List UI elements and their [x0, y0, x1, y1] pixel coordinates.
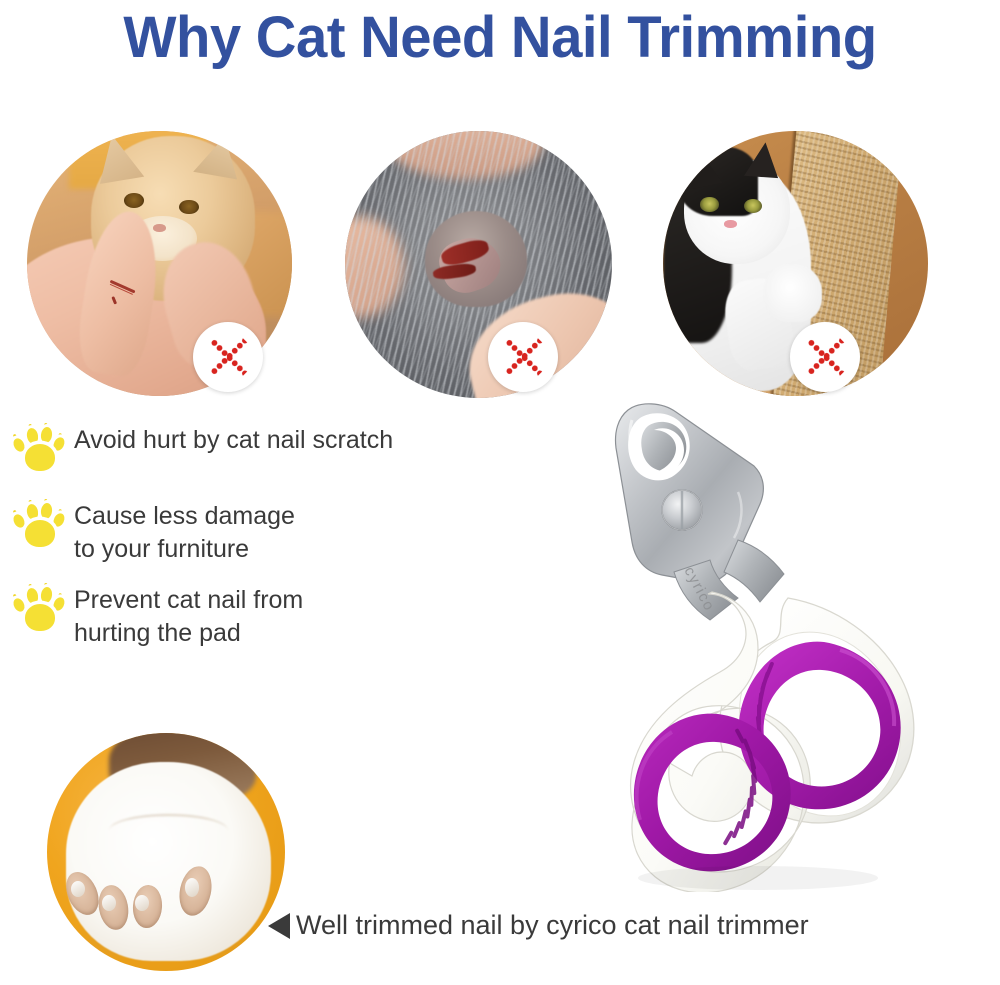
- benefit-label-2: Cause less damage to your furniture: [74, 496, 295, 566]
- result-caption: Well trimmed nail by cyrico cat nail tri…: [268, 910, 809, 941]
- x-mark-badge-3: [790, 322, 860, 392]
- benefit-label-1: Avoid hurt by cat nail scratch: [74, 420, 393, 457]
- benefit-item-3: Prevent cat nail from hurting the pad: [12, 580, 492, 650]
- paw-icon: [12, 498, 74, 556]
- page-title: Why Cat Need Nail Trimming: [15, 4, 985, 71]
- benefit-label-3: Prevent cat nail from hurting the pad: [74, 580, 303, 650]
- paw-icon: [12, 582, 74, 640]
- infographic-page: Why Cat Need Nail Trimming: [0, 0, 1000, 985]
- product-image-cat-nail-trimmer: cyrico: [588, 392, 988, 892]
- benefit-item-2: Cause less damage to your furniture: [12, 496, 492, 566]
- benefit-item-1: Avoid hurt by cat nail scratch: [12, 420, 492, 480]
- paw-icon: [12, 422, 74, 480]
- x-mark-badge-1: [193, 322, 263, 392]
- problem-photo-ingrown-nail: [345, 131, 612, 398]
- result-photo-well-trimmed-paw: [47, 733, 285, 971]
- left-triangle-arrow-icon: [268, 913, 290, 939]
- benefits-list: Avoid hurt by cat nail scratch Cause les…: [12, 420, 492, 668]
- result-caption-text: Well trimmed nail by cyrico cat nail tri…: [296, 910, 809, 941]
- x-mark-badge-2: [488, 322, 558, 392]
- photo-scene: [345, 131, 612, 398]
